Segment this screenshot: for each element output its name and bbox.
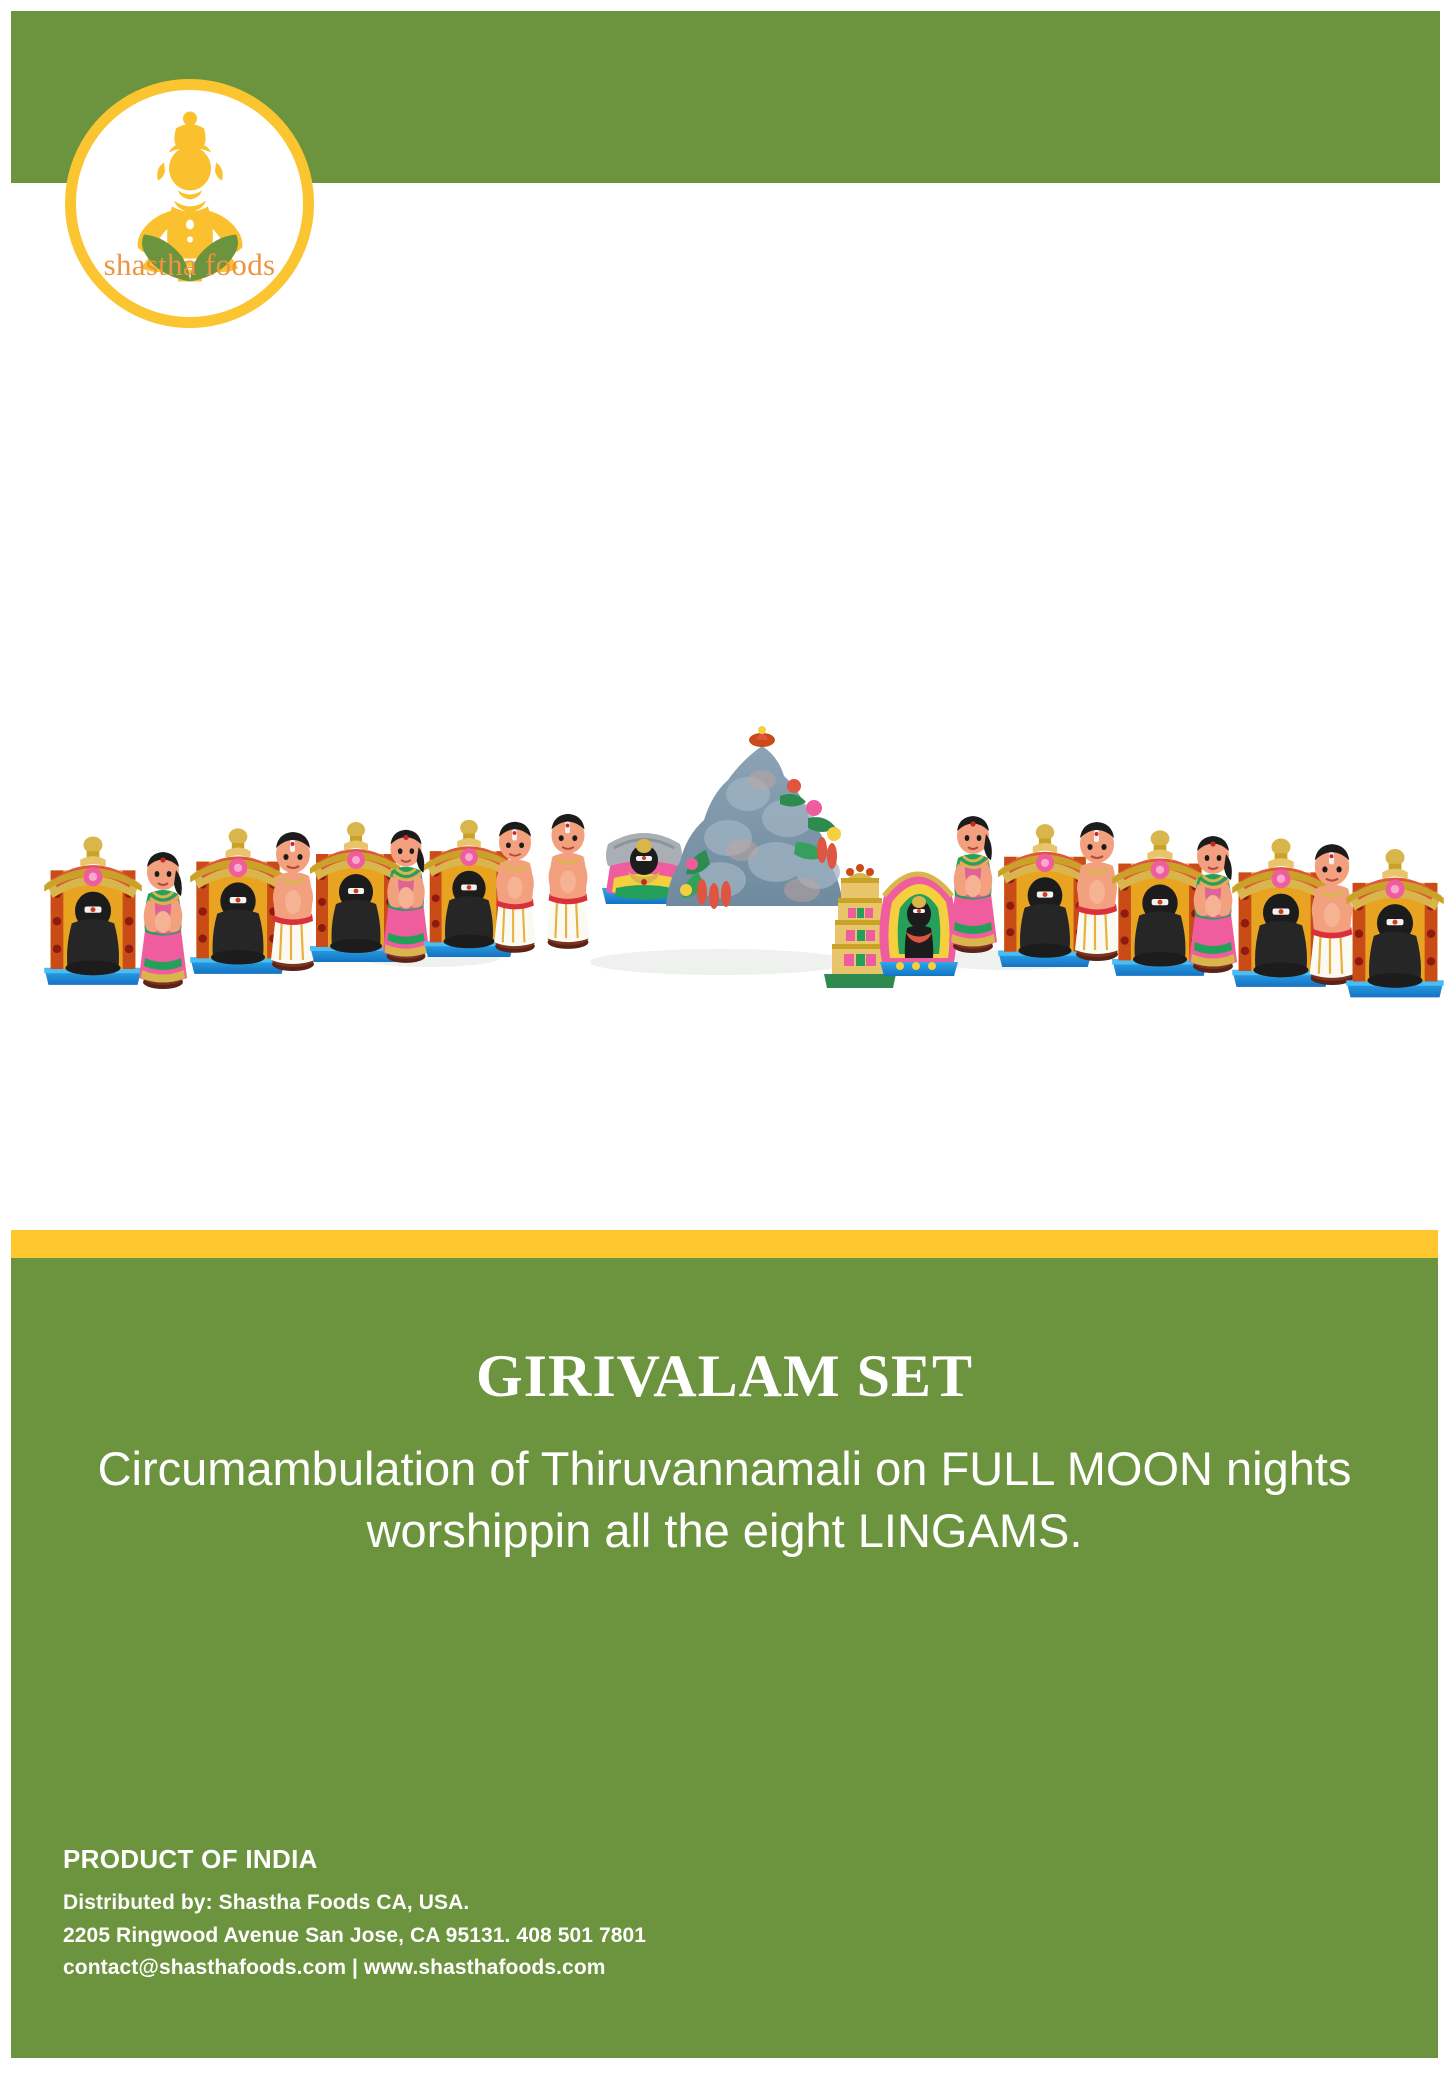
poster-page: shastha foods [0, 0, 1450, 2075]
distributor-line: Distributed by: Shastha Foods CA, USA. [63, 1887, 646, 1920]
product-title: GIRIVALAM SET [11, 1342, 1438, 1411]
product-photo [0, 590, 1450, 1010]
contact-line: contact@shasthafoods.com | www.shasthafo… [63, 1952, 646, 1985]
origin-label: PRODUCT OF INDIA [63, 1844, 646, 1875]
brand-logo-badge: shastha foods [65, 79, 314, 328]
product-description: Circumambulation of Thiruvannamali on FU… [71, 1438, 1378, 1562]
brand-wordmark: shastha foods [76, 247, 303, 283]
yellow-divider-band [11, 1230, 1438, 1258]
address-line: 2205 Ringwood Avenue San Jose, CA 95131.… [63, 1920, 646, 1953]
bottom-green-panel: GIRIVALAM SET Circumambulation of Thiruv… [11, 1258, 1438, 2058]
footer-block: PRODUCT OF INDIA Distributed by: Shastha… [63, 1844, 646, 1985]
